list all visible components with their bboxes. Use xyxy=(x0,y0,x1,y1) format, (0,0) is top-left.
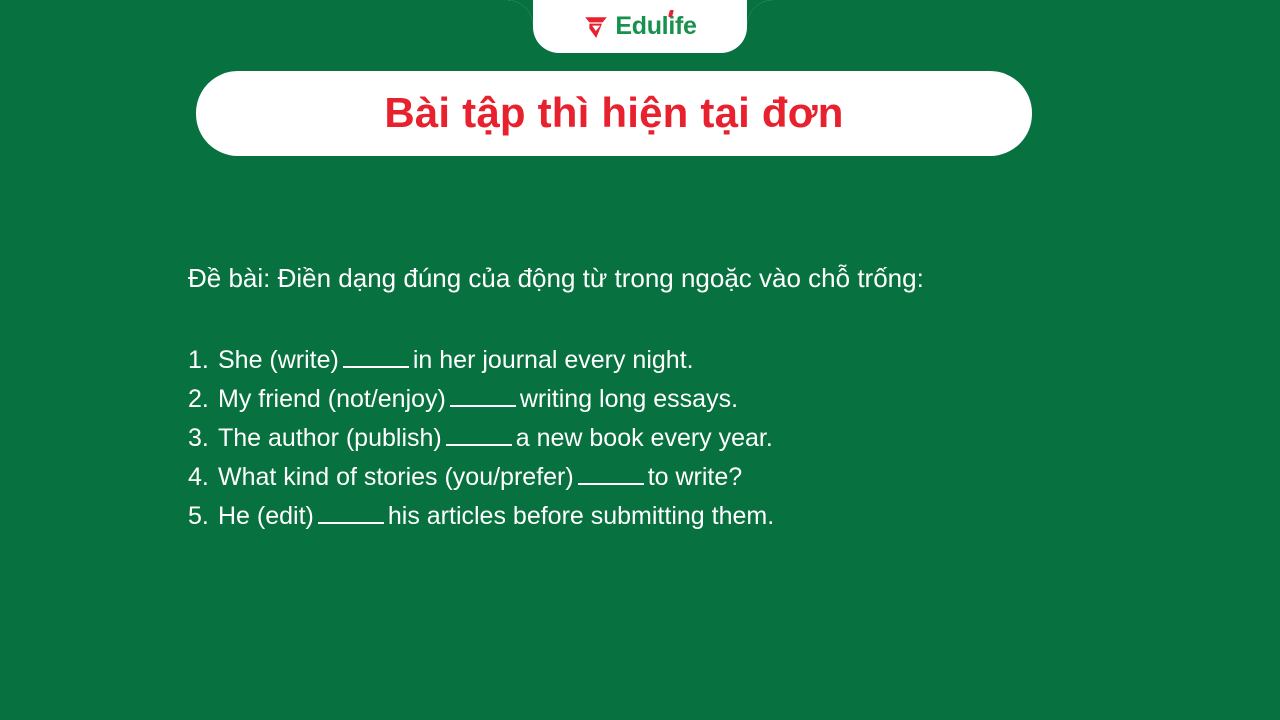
answer-blank[interactable] xyxy=(318,501,384,524)
question-number: 5. xyxy=(188,497,218,536)
brand-wordmark-part2: fe xyxy=(675,12,697,40)
question-text-after: his articles before submitting them. xyxy=(388,497,774,536)
question-text-after: a new book every year. xyxy=(516,419,773,458)
question-number: 1. xyxy=(188,341,218,380)
question-number: 3. xyxy=(188,419,218,458)
tab-curve-right xyxy=(747,0,773,27)
question-text-before: He (edit) xyxy=(218,497,314,536)
brand-wordmark-part1: Edul xyxy=(615,12,668,40)
page-title: Bài tập thì hiện tại đơn xyxy=(384,90,843,136)
question-number: 4. xyxy=(188,458,218,497)
question-text-after: to write? xyxy=(648,458,742,497)
list-item: 4. What kind of stories (you/prefer) to … xyxy=(188,458,1188,497)
question-text-before: What kind of stories (you/prefer) xyxy=(218,458,574,497)
question-text-before: My friend (not/enjoy) xyxy=(218,380,446,419)
question-text-before: She (write) xyxy=(218,341,339,380)
brand-wordmark: Edulife xyxy=(615,14,696,39)
brand-wordmark-i: i xyxy=(668,12,675,40)
tab-curve-left xyxy=(507,0,533,27)
answer-blank[interactable] xyxy=(578,462,644,485)
answer-blank[interactable] xyxy=(450,384,516,407)
question-list: 1. She (write) in her journal every nigh… xyxy=(188,341,1188,536)
answer-blank[interactable] xyxy=(343,345,409,368)
list-item: 3. The author (publish) a new book every… xyxy=(188,419,1188,458)
list-item: 1. She (write) in her journal every nigh… xyxy=(188,341,1188,380)
exercise-prompt: Đề bài: Điền dạng đúng của động từ trong… xyxy=(188,262,1188,295)
exercise-content: Đề bài: Điền dạng đúng của động từ trong… xyxy=(188,262,1188,536)
brand-tab: Edulife xyxy=(533,0,747,53)
list-item: 2. My friend (not/enjoy) writing long es… xyxy=(188,380,1188,419)
question-text-after: writing long essays. xyxy=(520,380,738,419)
question-text-after: in her journal every night. xyxy=(413,341,694,380)
question-number: 2. xyxy=(188,380,218,419)
answer-blank[interactable] xyxy=(446,423,512,446)
edulife-flag-logo-icon xyxy=(583,14,609,40)
list-item: 5. He (edit) his articles before submitt… xyxy=(188,497,1188,536)
title-card: Bài tập thì hiện tại đơn xyxy=(196,71,1032,156)
question-text-before: The author (publish) xyxy=(218,419,442,458)
